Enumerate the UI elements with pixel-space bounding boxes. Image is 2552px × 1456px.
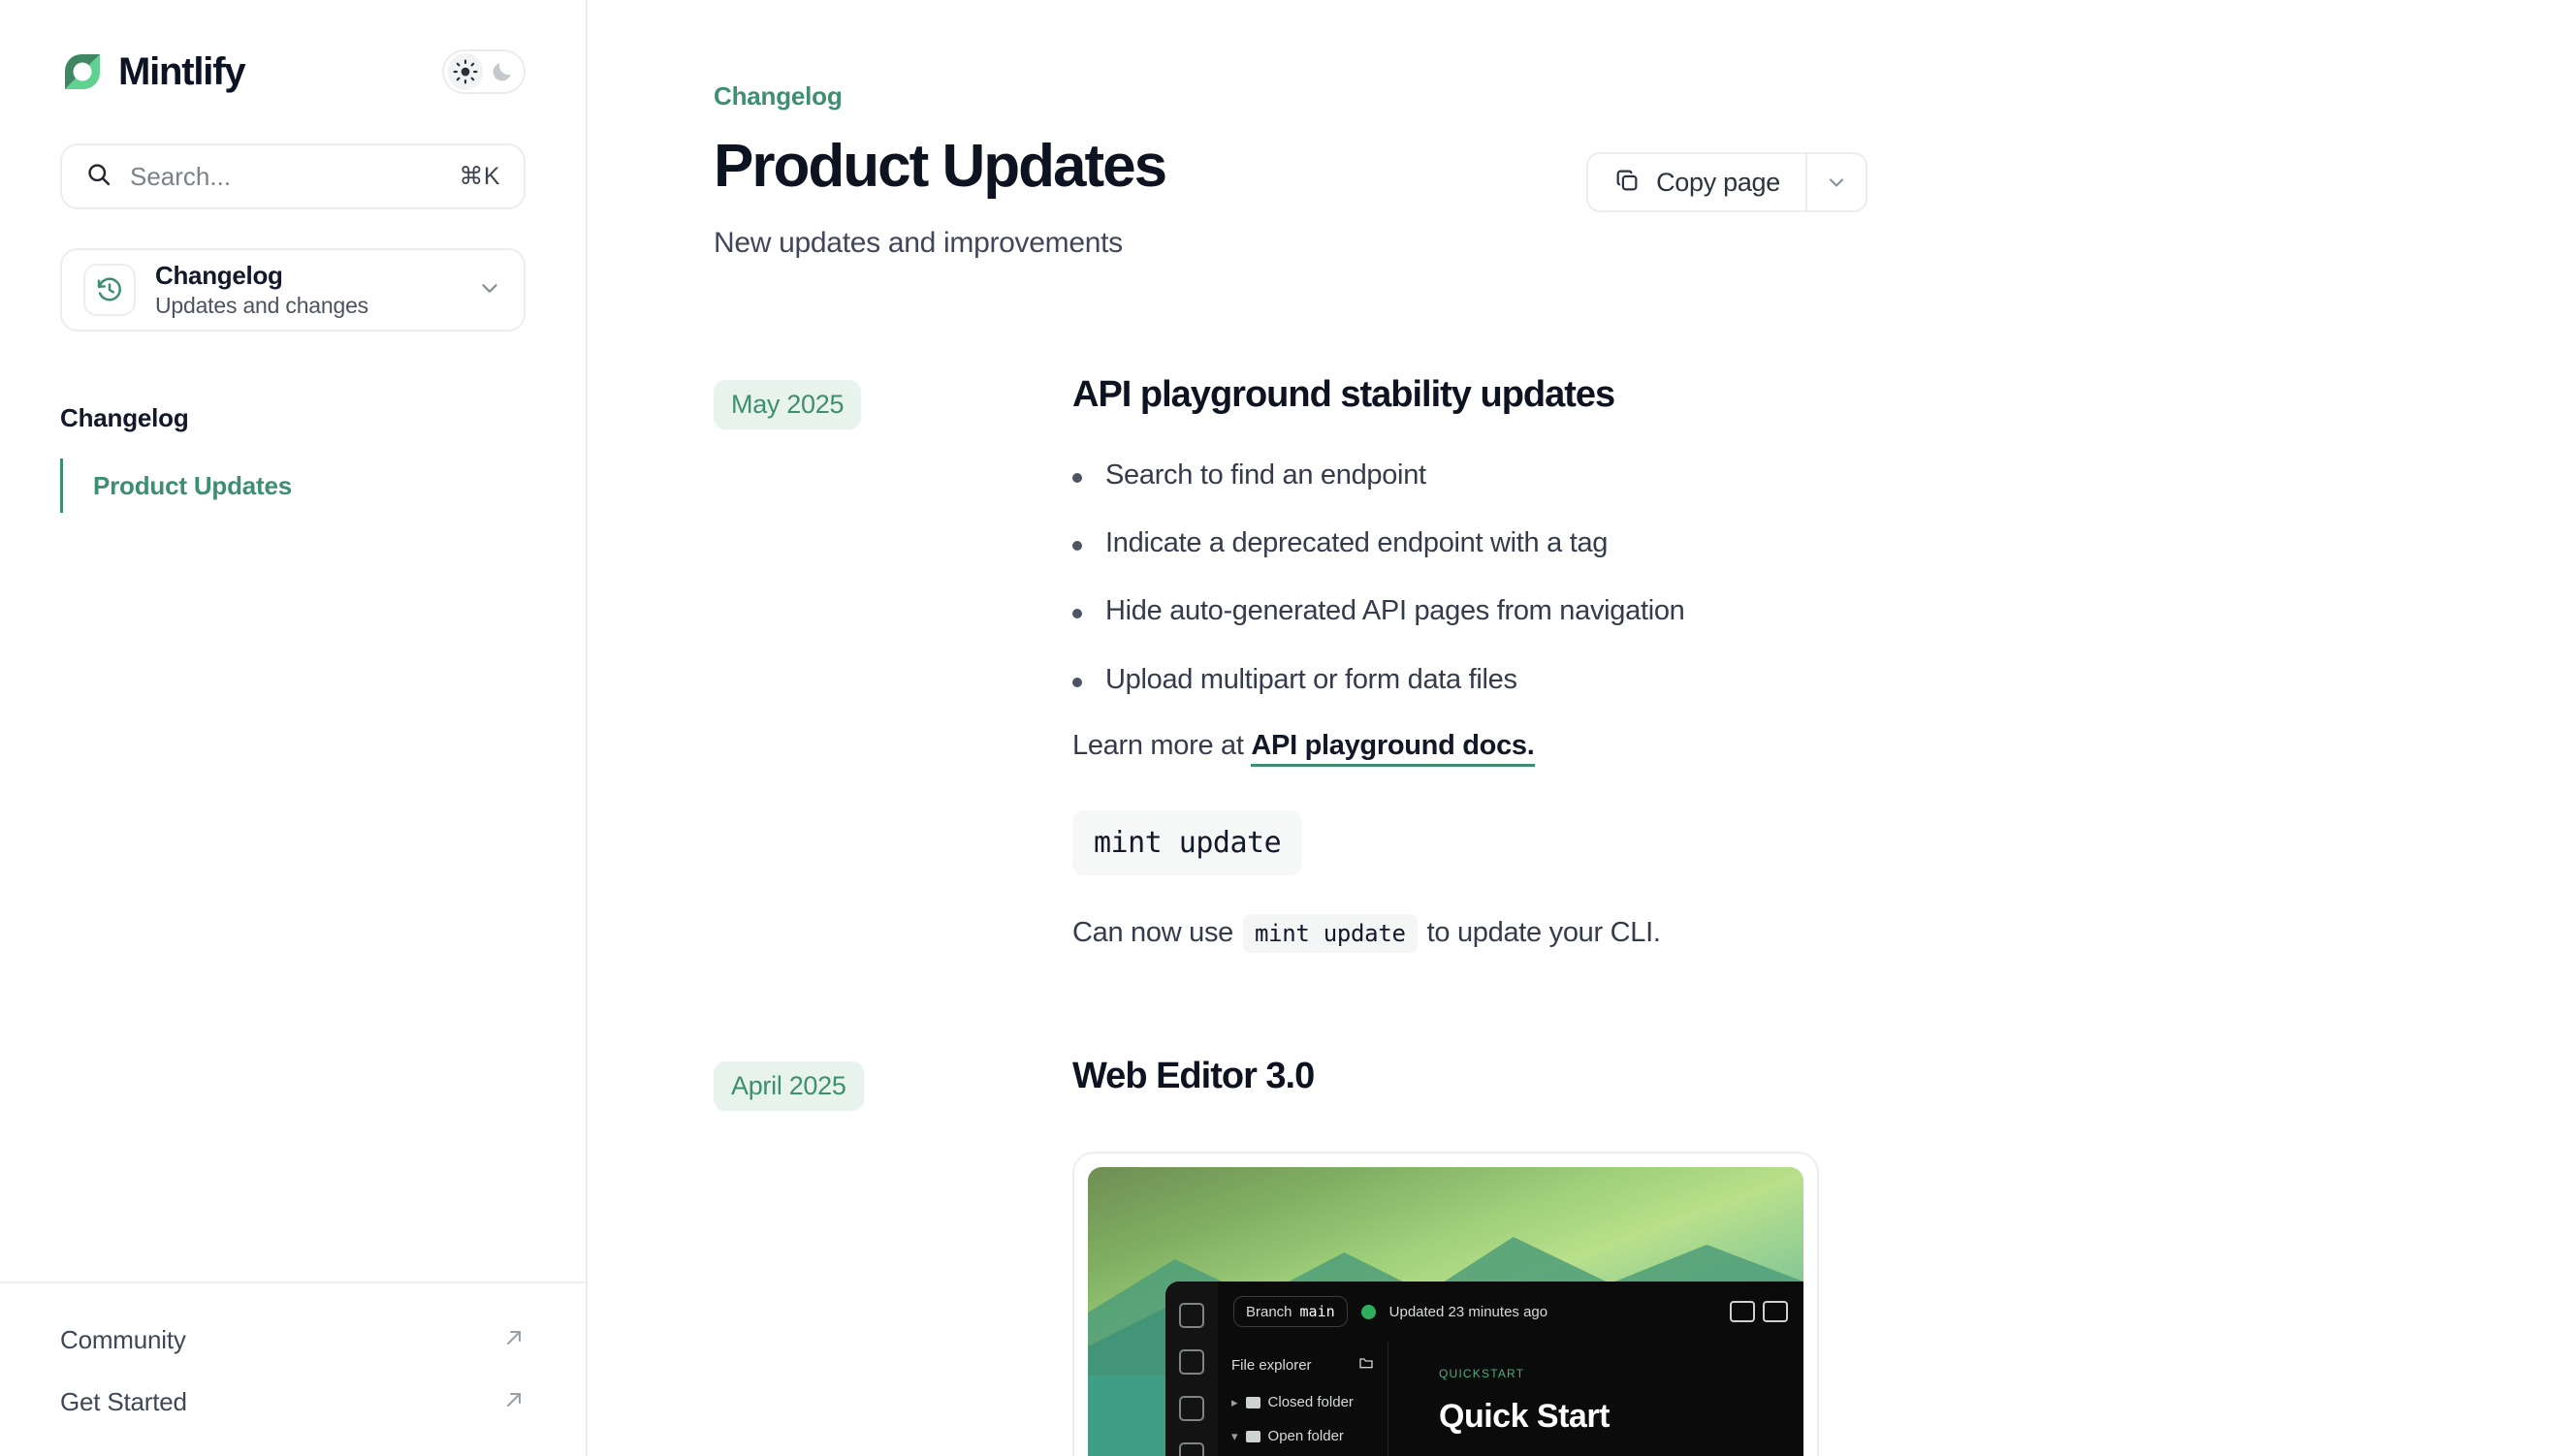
editor-left-rail: [1165, 1282, 1218, 1456]
context-switcher-title: Changelog: [155, 261, 458, 291]
sidebar-item-product-updates[interactable]: Product Updates: [60, 459, 526, 513]
brand[interactable]: Mintlify: [60, 49, 244, 94]
search-icon: [85, 161, 112, 193]
entry-heading: Web Editor 3.0: [1072, 1056, 1867, 1098]
code-caption-prefix: Can now use: [1072, 917, 1233, 949]
sidebar-footer-link-get-started[interactable]: Get Started: [60, 1371, 526, 1433]
layout-icon[interactable]: [1730, 1301, 1755, 1322]
copy-page-dropdown-button[interactable]: [1805, 154, 1866, 210]
folder-open-icon: [1246, 1431, 1260, 1442]
context-switcher-subtitle: Updates and changes: [155, 293, 458, 319]
sun-icon[interactable]: [448, 53, 483, 90]
list-item: Search to find an endpoint: [1072, 458, 1867, 492]
file-explorer-title: File explorer: [1231, 1357, 1312, 1374]
entry-body: Web Editor 3.0: [1072, 1056, 1867, 1456]
file-explorer-header: File explorer: [1218, 1342, 1388, 1385]
copy-page-group: Copy page: [1586, 152, 1867, 212]
context-switcher-text: Changelog Updates and changes: [155, 261, 458, 319]
learn-more-line: Learn more at API playground docs.: [1072, 730, 1867, 762]
file-tree-label: Open folder: [1268, 1428, 1344, 1444]
editor-window: Branch main Updated 23 minutes ago: [1165, 1282, 1803, 1456]
editor-topbar: Branch main Updated 23 minutes ago: [1218, 1282, 1803, 1342]
list-item-label: Indicate a deprecated endpoint with a ta…: [1105, 525, 1608, 560]
sidebar-footer-label: Get Started: [60, 1387, 187, 1417]
bullet-dot-icon: [1072, 609, 1082, 618]
theme-toggle[interactable]: [442, 49, 526, 94]
brand-name: Mintlify: [118, 50, 244, 94]
sidebar-item-label: Product Updates: [93, 471, 292, 501]
entry-heading: API playground stability updates: [1072, 374, 1867, 417]
doc-eyebrow: QUICKSTART: [1439, 1367, 1803, 1380]
nav-group-title: Changelog: [60, 403, 526, 433]
copy-page-button[interactable]: Copy page: [1588, 154, 1805, 210]
chevron-down-icon: ▾: [1231, 1429, 1238, 1444]
chevron-down-icon[interactable]: [477, 275, 502, 305]
bullet-dot-icon: [1072, 541, 1082, 551]
home-icon[interactable]: [1179, 1349, 1204, 1375]
editor-document-area: QUICKSTART Quick Start: [1388, 1342, 1803, 1456]
file-tree-item-open-folder[interactable]: ▾ Open folder: [1218, 1419, 1388, 1453]
preview-icon[interactable]: [1763, 1301, 1788, 1322]
folder-icon: [1246, 1397, 1260, 1409]
branch-name: main: [1300, 1303, 1335, 1320]
date-badge: April 2025: [714, 1061, 864, 1111]
brand-row: Mintlify: [60, 43, 526, 101]
main-content: Changelog Product Updates New updates an…: [588, 0, 2552, 1456]
code-caption-suffix: to update your CLI.: [1427, 917, 1661, 949]
search-shortcut: ⌘K: [459, 162, 500, 191]
list-item: Hide auto-generated API pages from navig…: [1072, 593, 1867, 628]
file-tree-item-closed-folder[interactable]: ▸ Closed folder: [1218, 1385, 1388, 1419]
code-block-mint-update: mint update: [1072, 810, 1302, 875]
list-item-label: Upload multipart or form data files: [1105, 662, 1517, 697]
list-item-label: Hide auto-generated API pages from navig…: [1105, 593, 1685, 628]
sidebar: Mintlify: [0, 0, 588, 1456]
copy-icon: [1613, 167, 1641, 199]
changelog-entries: May 2025 API playground stability update…: [714, 374, 1867, 1456]
external-link-arrow-icon: [502, 1326, 526, 1354]
external-link-arrow-icon: [502, 1388, 526, 1416]
context-switcher-changelog[interactable]: Changelog Updates and changes: [60, 248, 526, 332]
list-item-label: Search to find an endpoint: [1105, 458, 1426, 492]
sidebar-footer: Community Get Started: [0, 1283, 586, 1433]
bullet-dot-icon: [1072, 678, 1082, 687]
search-placeholder: Search...: [130, 162, 441, 192]
entry-date: May 2025: [714, 374, 1072, 429]
app-root: Mintlify: [0, 0, 2552, 1456]
new-folder-icon[interactable]: [1358, 1355, 1374, 1376]
copy-page-label: Copy page: [1656, 168, 1780, 198]
code-caption-line: Can now use mint update to update your C…: [1072, 914, 1867, 953]
editor-topbar-actions: [1730, 1301, 1788, 1322]
changelog-entry: May 2025 API playground stability update…: [714, 374, 1867, 953]
list-item: Indicate a deprecated endpoint with a ta…: [1072, 525, 1867, 560]
nav-list: Product Updates: [60, 459, 526, 513]
sidebar-top: Mintlify: [0, 0, 586, 513]
entry-bullet-list: Search to find an endpoint Indicate a de…: [1072, 458, 1867, 697]
page-subtitle: New updates and improvements: [714, 227, 1165, 260]
document-column: Changelog Product Updates New updates an…: [714, 0, 1867, 1456]
changelog-entry: April 2025 Web Editor 3.0: [714, 1056, 1867, 1456]
sidebar-footer-label: Community: [60, 1325, 186, 1355]
list-item: Upload multipart or form data files: [1072, 662, 1867, 697]
title-row: Product Updates New updates and improvem…: [714, 135, 1867, 260]
entry-date: April 2025: [714, 1056, 1072, 1111]
branch-selector[interactable]: Branch main: [1233, 1296, 1348, 1327]
status-check-icon: [1361, 1305, 1376, 1319]
breadcrumb[interactable]: Changelog: [714, 81, 1867, 111]
learn-more-prefix: Learn more at: [1072, 730, 1251, 761]
moon-icon[interactable]: [485, 53, 520, 90]
update-status-label: Updated 23 minutes ago: [1389, 1304, 1547, 1320]
inline-code-mint-update: mint update: [1243, 914, 1418, 953]
pages-icon[interactable]: [1179, 1396, 1204, 1421]
bullet-dot-icon: [1072, 473, 1082, 483]
history-clock-icon: [83, 264, 136, 316]
title-block: Product Updates New updates and improvem…: [714, 135, 1165, 260]
branch-label: Branch: [1246, 1304, 1292, 1320]
doc-title: Quick Start: [1439, 1398, 1803, 1436]
page-title: Product Updates: [714, 135, 1165, 198]
search-input[interactable]: Search... ⌘K: [60, 143, 526, 209]
entry-body: API playground stability updates Search …: [1072, 374, 1867, 953]
web-editor-screenshot-frame: Branch main Updated 23 minutes ago: [1072, 1152, 1819, 1456]
api-playground-docs-link[interactable]: API playground docs.: [1251, 730, 1534, 767]
chevron-right-icon: ▸: [1231, 1395, 1238, 1410]
panel-toggle-icon[interactable]: [1179, 1303, 1204, 1328]
web-editor-screenshot: Branch main Updated 23 minutes ago: [1088, 1167, 1803, 1456]
file-explorer-panel: File explorer ▸ Clos: [1218, 1342, 1388, 1456]
sidebar-footer-link-community[interactable]: Community: [60, 1309, 526, 1371]
file-tree-label: Closed folder: [1268, 1394, 1354, 1410]
image-icon[interactable]: [1179, 1442, 1204, 1456]
date-badge: May 2025: [714, 380, 861, 429]
mintlify-leaf-logo-icon: [60, 49, 105, 94]
